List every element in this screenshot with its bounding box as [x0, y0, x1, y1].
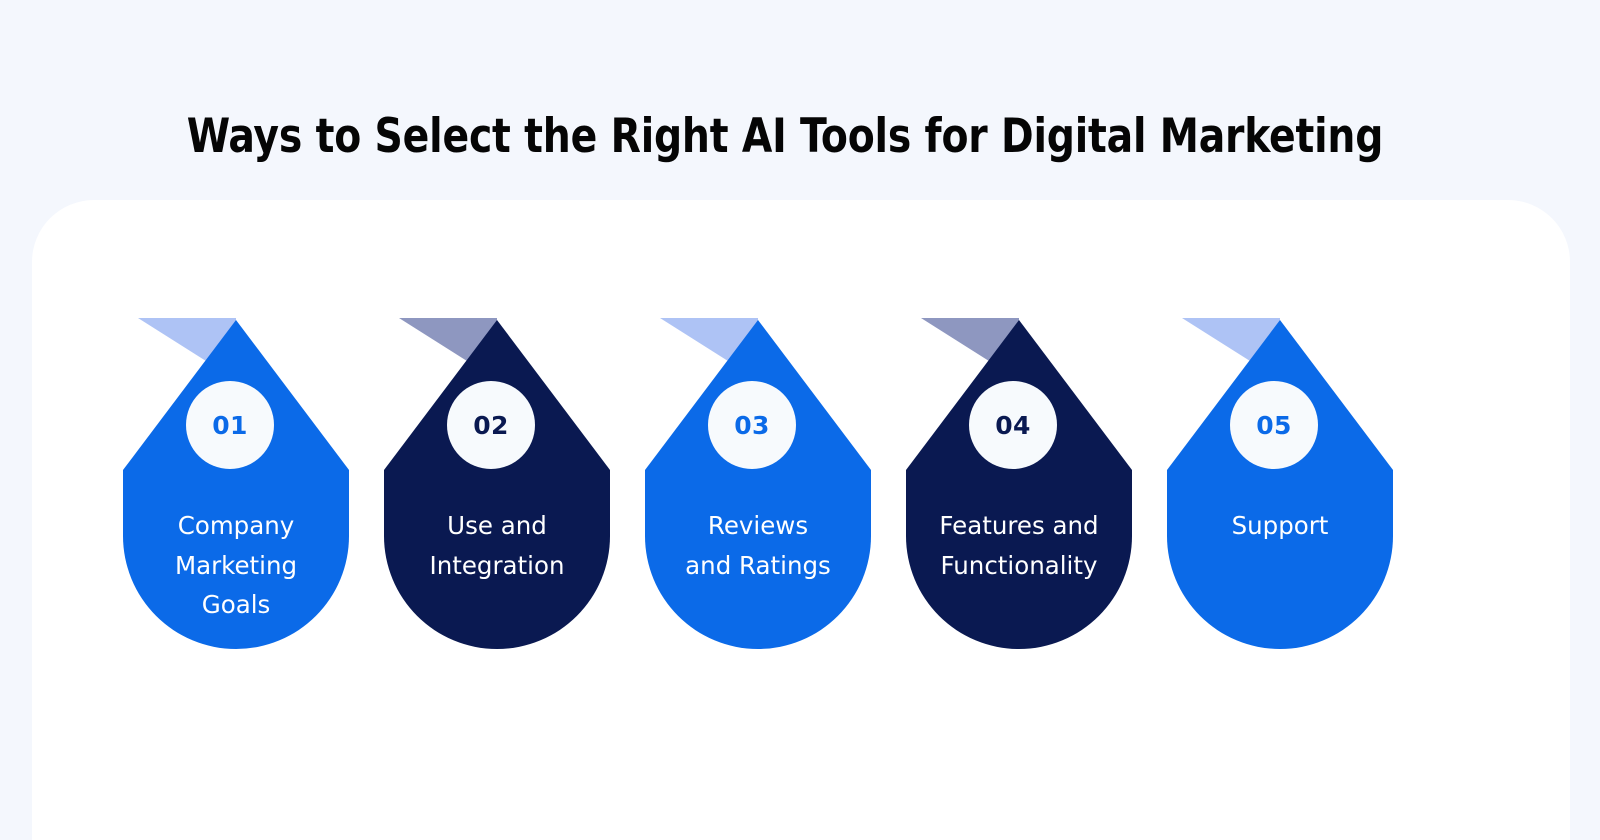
step-number-badge: 02	[447, 381, 535, 469]
droplet-shape-icon	[903, 318, 1135, 658]
page-title: Ways to Select the Right AI Tools for Di…	[55, 109, 1515, 164]
droplet-shape-icon	[381, 318, 613, 658]
droplet-shape-icon	[1164, 318, 1396, 658]
step-label: Features and Functionality	[909, 506, 1129, 585]
step-number-badge: 03	[708, 381, 796, 469]
step-label: Use and Integration	[387, 506, 607, 585]
step-droplet[interactable]: 02 Use and Integration	[381, 318, 613, 658]
step-number-badge: 04	[969, 381, 1057, 469]
step-number-badge: 01	[186, 381, 274, 469]
step-droplet[interactable]: 03 Reviews and Ratings	[642, 318, 874, 658]
droplet-shape-icon	[642, 318, 874, 658]
step-number: 03	[734, 413, 770, 438]
step-number: 05	[1256, 413, 1292, 438]
step-number: 02	[473, 413, 509, 438]
step-number: 04	[995, 413, 1031, 438]
step-number-badge: 05	[1230, 381, 1318, 469]
step-droplet[interactable]: 04 Features and Functionality	[903, 318, 1135, 658]
step-label: Reviews and Ratings	[648, 506, 868, 585]
step-label: Company Marketing Goals	[126, 506, 346, 625]
step-droplet[interactable]: 05 Support	[1164, 318, 1396, 658]
steps-container: 01 Company Marketing Goals 02 Use and In…	[32, 200, 1570, 840]
step-label: Support	[1170, 506, 1390, 546]
step-number: 01	[212, 413, 248, 438]
step-droplet[interactable]: 01 Company Marketing Goals	[120, 318, 352, 658]
